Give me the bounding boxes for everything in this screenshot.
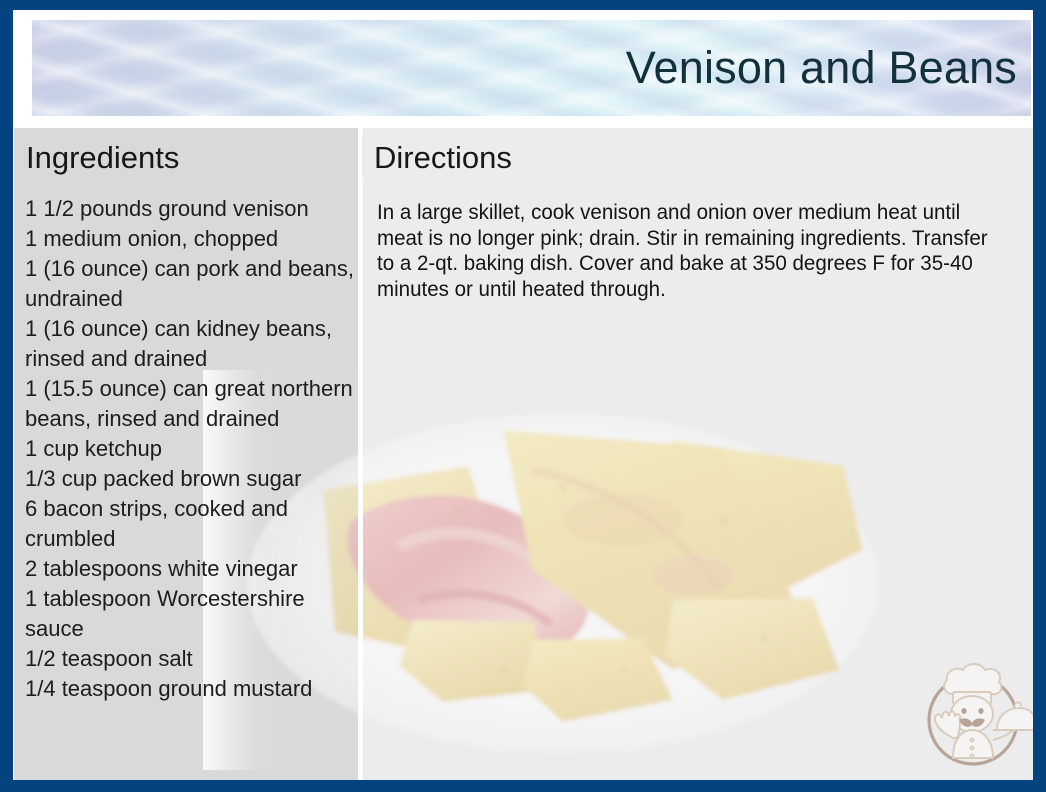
directions-text: In a large skillet, cook venison and oni… — [377, 200, 994, 302]
directions-heading: Directions — [374, 142, 512, 173]
directions-header-tab: Directions — [362, 136, 538, 178]
ingredients-heading: Ingredients — [26, 142, 179, 173]
title-banner: Venison and Beans — [32, 20, 1031, 116]
recipe-card-inner: Venison and Beans — [13, 10, 1033, 780]
panel-divider — [358, 128, 363, 780]
recipe-card-frame: Venison and Beans — [0, 0, 1046, 792]
page-title: Venison and Beans — [626, 42, 1017, 94]
ingredients-header-tab: Ingredients — [14, 136, 213, 178]
ingredients-list: 1 1/2 pounds ground venison 1 medium oni… — [25, 194, 355, 704]
